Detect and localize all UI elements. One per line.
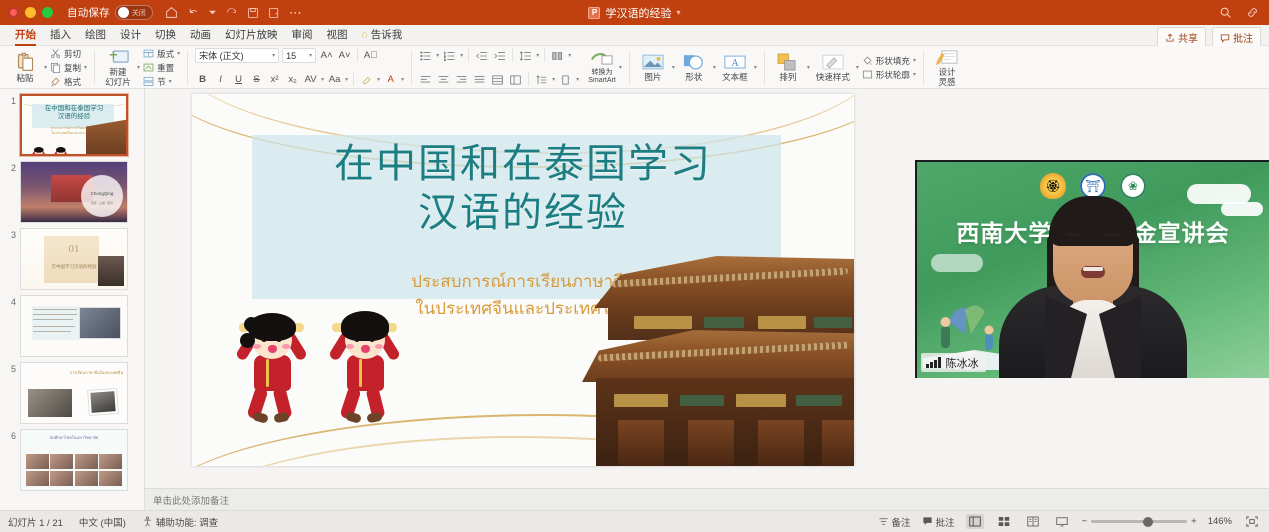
link-icon[interactable] [1246, 6, 1259, 19]
thumbnail-number: 2 [4, 161, 16, 173]
chevron-down-icon[interactable]: ▾ [913, 57, 916, 64]
cut-label: 剪切 [64, 48, 81, 60]
zoom-level-label[interactable]: 146% [1208, 516, 1232, 527]
slide-thumbnail-4[interactable] [20, 295, 128, 357]
zoom-out-button[interactable]: − [1082, 516, 1088, 527]
ribbon-tab-bar: 开始 插入 绘图 设计 切换 动画 幻灯片放映 审阅 视图 ◌告诉我 共享 批注 [0, 25, 1269, 46]
chevron-down-icon[interactable]: ▾ [309, 52, 312, 59]
quick-styles-label: 快速样式 [816, 73, 850, 82]
participant-name-badge: 陈冰冰 [921, 353, 986, 372]
ribbon-group-font: 宋体 (正文) ▾ 15 ▾ A˄ A˅ A⃠ B I U S x² x₂ AV [190, 47, 409, 88]
chevron-down-icon[interactable]: ▾ [169, 78, 172, 85]
emblem-icon-3: ❀ [1120, 173, 1146, 199]
chevron-down-icon[interactable]: ▾ [807, 64, 810, 71]
thumbnail-number: 3 [4, 228, 16, 240]
shape-fill-button[interactable]: 形状填充 ▾ [862, 55, 916, 67]
thumb-kid-boy [54, 147, 57, 151]
thumb-portrait-photo [87, 388, 119, 416]
thumb-title-line2: 汉语的经验 [22, 113, 126, 121]
shape-outline-icon [862, 69, 873, 80]
picture-label: 图片 [644, 73, 661, 82]
highlighter-icon [361, 74, 372, 85]
layout-icon [143, 48, 154, 59]
chevron-down-icon[interactable]: ▾ [460, 52, 463, 59]
bold-button[interactable]: B [195, 73, 210, 87]
numbered-list-icon: 123 [444, 51, 455, 61]
accessibility-label: 辅助功能: 调查 [156, 515, 218, 529]
participant-name: 陈冰冰 [946, 355, 979, 371]
subscript-button[interactable]: x₂ [285, 73, 300, 87]
save-icon[interactable] [247, 7, 259, 19]
chevron-down-icon[interactable]: ▾ [672, 64, 675, 71]
zoom-track[interactable] [1091, 520, 1187, 523]
thumb-section-number: 01 [21, 243, 127, 255]
font-name-value: 宋体 (正文) [199, 49, 244, 62]
text-direction-icon [510, 75, 521, 85]
powerpoint-icon: P [588, 7, 600, 19]
share-icon [1165, 33, 1175, 43]
ribbon-separator [468, 49, 469, 62]
fit-window-icon [1246, 516, 1258, 527]
ribbon-group-clipboard: 粘贴 ▾ 剪切 复制 ▾ 格式 [4, 47, 92, 88]
vertical-text-icon [560, 75, 571, 85]
more-icon[interactable]: ⋯ [289, 6, 302, 19]
chevron-down-icon[interactable]: ▾ [321, 76, 324, 83]
fit-to-window-button[interactable] [1243, 514, 1261, 529]
character-spacing-button[interactable]: AV [303, 73, 318, 87]
increase-font-size-button[interactable]: A˄ [319, 49, 334, 63]
accessibility-icon [142, 516, 153, 527]
underline-button[interactable]: U [231, 73, 246, 87]
notes-icon [878, 516, 889, 527]
ribbon-tab-view[interactable]: 视图 [320, 25, 355, 45]
chevron-down-icon[interactable]: ▾ [568, 52, 571, 59]
ribbon-tab-animations[interactable]: 动画 [183, 25, 218, 45]
ribbon-tab-draw[interactable]: 绘图 [78, 25, 113, 45]
redo-icon[interactable] [225, 6, 238, 19]
comment-icon [922, 516, 933, 527]
zoom-in-button[interactable]: + [1191, 516, 1197, 527]
format-painter-button[interactable]: 格式 [50, 76, 87, 88]
copy-label: 复制 [64, 62, 81, 74]
ribbon-separator [353, 73, 354, 86]
slide-title-line2: 汉语的经验 [192, 188, 854, 238]
textbox-label: 文本框 [722, 73, 748, 82]
text-box-direction-button[interactable] [558, 73, 573, 87]
reading-view-icon [1027, 516, 1039, 527]
scissors-icon [50, 48, 61, 59]
slide-sorter-view-button[interactable] [995, 514, 1013, 529]
notes-placeholder: 单击此处添加备注 [153, 493, 229, 507]
participant-video-feed [993, 198, 1193, 378]
search-icon[interactable] [1219, 6, 1232, 19]
decrease-font-size-button[interactable]: A˅ [337, 49, 352, 63]
thumb-textblock [32, 306, 80, 341]
clear-formatting-button[interactable]: A⃠ [363, 49, 378, 63]
reading-view-button[interactable] [1024, 514, 1042, 529]
section-label: 节 [157, 76, 166, 88]
thumb-group-photo [79, 307, 121, 339]
ribbon-group-designer: 设计 灵感 [926, 47, 968, 88]
clipboard-commands: 剪切 复制 ▾ 格式 [50, 48, 87, 88]
accessibility-status[interactable]: 辅助功能: 调查 [142, 515, 218, 529]
strikethrough-button[interactable]: S [249, 73, 264, 87]
comments-toggle-button[interactable]: 批注 [922, 515, 955, 529]
presenter-view-button[interactable] [1053, 514, 1071, 529]
new-slide-label-line2: 幻灯片 [105, 78, 131, 87]
new-slide-label-line1: 新建 [110, 68, 127, 77]
textbox-icon: A [724, 53, 746, 72]
line-spacing-button[interactable] [518, 49, 533, 63]
chevron-down-icon[interactable]: ▾ [856, 64, 859, 71]
paste-dropdown-icon[interactable]: ▾ [44, 64, 47, 71]
thumbnail-number: 5 [4, 362, 16, 374]
thumb-heading: นักศึกษาไทยในมหาวิทยาลัย [21, 434, 127, 441]
chevron-down-icon[interactable]: ▾ [177, 50, 180, 57]
font-name-combobox[interactable]: 宋体 (正文) ▾ [195, 48, 279, 63]
ribbon-tab-slideshow[interactable]: 幻灯片放映 [218, 25, 285, 45]
chevron-down-icon[interactable]: ▾ [913, 71, 916, 78]
justify-icon [474, 75, 485, 85]
thumbnail-number: 6 [4, 429, 16, 441]
slide-title[interactable]: 在中国和在泰国学习 汉语的经验 [192, 139, 854, 238]
chevron-down-icon[interactable]: ▾ [713, 64, 716, 71]
decrease-indent-icon [476, 51, 487, 61]
cartoon-boy-illustration [331, 311, 399, 421]
thumbnail-row-5[interactable]: 5 การเรียนภาษาจีนในประเทศจีน [0, 357, 144, 424]
chevron-down-icon[interactable]: ▾ [436, 52, 439, 59]
chevron-down-icon[interactable] [209, 9, 216, 16]
section-icon [143, 76, 154, 87]
thumb-caption-circle: ChongQing 重庆 · 山城 · 夜景 [81, 175, 123, 217]
slide-thumbnail-6[interactable]: นักศึกษาไทยในมหาวิทยาลัย [20, 429, 128, 491]
normal-view-icon [969, 516, 981, 527]
chevron-down-icon[interactable]: ▾ [619, 64, 622, 71]
chevron-down-icon[interactable]: ▾ [377, 76, 380, 83]
ribbon-separator [94, 51, 95, 84]
thumb-caption-sub: 重庆 · 山城 · 夜景 [81, 201, 123, 205]
ribbon-separator [411, 51, 412, 84]
shape-format-commands: 形状填充 ▾ 形状轮廓 ▾ [862, 55, 916, 81]
change-case-button[interactable]: Aa [327, 73, 342, 87]
superscript-button[interactable]: x² [267, 73, 282, 87]
ribbon-separator [528, 73, 529, 86]
ribbon-separator [512, 49, 513, 62]
normal-view-button[interactable] [966, 514, 984, 529]
new-slide-icon [107, 48, 129, 67]
decrease-indent-button[interactable] [474, 49, 489, 63]
picture-icon [642, 53, 664, 72]
font-size-value: 15 [286, 51, 296, 61]
tell-me-label: 告诉我 [371, 29, 403, 41]
align-right-icon [456, 75, 467, 85]
temple-lower-facade [596, 378, 854, 466]
cartoon-girl-illustration [238, 311, 306, 421]
language-indicator[interactable]: 中文 (中国) [79, 515, 126, 529]
paste-icon [15, 52, 36, 73]
arrange-icon [777, 53, 798, 72]
autosave-state-label: 关闭 [132, 8, 146, 18]
chevron-down-icon[interactable]: ▾ [401, 76, 404, 83]
svg-text:2: 2 [444, 54, 446, 58]
reset-icon [143, 62, 154, 73]
video-conference-panel[interactable]: 🏵 ⛩ ❀ 西南大学20 学金宣讲会 [915, 160, 1269, 378]
powerpoint-window: 自动保存 关闭 ⋯ P [0, 0, 1269, 532]
ribbon-tab-design[interactable]: 设计 [113, 25, 148, 45]
status-bar-right: 备注 批注 − + [878, 514, 1261, 529]
ribbon-separator [357, 49, 358, 62]
cloud-decoration [931, 254, 983, 272]
format-painter-label: 格式 [64, 76, 81, 88]
notes-pane[interactable]: 单击此处添加备注 [145, 488, 1269, 510]
chevron-down-icon[interactable]: ▾ [552, 76, 555, 83]
comments-button-label: 批注 [936, 515, 955, 529]
share-button[interactable]: 共享 [1157, 27, 1206, 48]
autosave-toggle[interactable]: 关闭 [115, 5, 153, 20]
thumbnail-row-1[interactable]: 1 在中国和在泰国学习 汉语的经验 ประสบการณ์การเรียนภาษา… [0, 89, 144, 156]
ribbon-group-insert: 图片 ▾ 形状 ▾ A 文本框 ▾ [632, 47, 762, 88]
titlebar-right-actions [1219, 0, 1259, 25]
slide-title-line1: 在中国和在泰国学习 [192, 139, 854, 189]
layout-label: 版式 [157, 48, 174, 60]
thumbnail-number: 4 [4, 295, 16, 307]
bullets-button[interactable] [418, 49, 433, 63]
close-window-button[interactable] [8, 7, 19, 18]
ribbon-tab-review[interactable]: 审阅 [285, 25, 320, 45]
svg-text:A: A [731, 58, 739, 69]
text-direction-button[interactable] [508, 73, 523, 87]
smartart-label-line2: SmartArt [588, 77, 616, 84]
ribbon-separator [923, 51, 924, 84]
ribbon-tab-insert[interactable]: 插入 [43, 25, 78, 45]
ribbon-tab-home[interactable]: 开始 [8, 25, 43, 45]
arrange-label: 排列 [779, 73, 796, 82]
chevron-down-icon[interactable]: ▾ [576, 76, 579, 83]
autosave-toggle-knob [118, 7, 129, 18]
paste-button[interactable]: 粘贴 [9, 51, 41, 84]
slide-sorter-icon [998, 516, 1010, 527]
chevron-down-icon[interactable]: ▾ [272, 52, 275, 59]
align-text-icon [536, 75, 547, 85]
layout-button[interactable]: 版式 ▾ [143, 48, 180, 60]
align-center-button[interactable] [436, 73, 451, 87]
thumbnail-number: 1 [4, 94, 16, 106]
status-bar: 幻灯片 1 / 21 中文 (中国) 辅助功能: 调查 备注 批注 [0, 510, 1269, 532]
shapes-button[interactable]: 形状 [678, 52, 710, 83]
thumb-kid-girl [32, 147, 35, 151]
notes-button-label: 备注 [892, 515, 911, 529]
thumb-classroom-photo [28, 389, 72, 417]
designer-button[interactable]: 设计 灵感 [931, 47, 963, 88]
reset-button[interactable]: 重置 [143, 62, 180, 74]
thumb-caption: ChongQing [81, 191, 123, 196]
designer-label-line2: 灵感 [938, 78, 955, 87]
slide-counter[interactable]: 幻灯片 1 / 21 [8, 515, 63, 529]
home-icon[interactable] [165, 6, 178, 19]
thumb-heading: การเรียนภาษาจีนในประเทศจีน [21, 369, 123, 376]
presenter-view-icon [1056, 516, 1068, 527]
reset-label: 重置 [157, 62, 174, 74]
title-bar: 自动保存 关闭 ⋯ P [0, 0, 1269, 25]
shape-outline-label: 形状轮廓 [876, 69, 910, 81]
emblem-icon-2: ⛩ [1080, 173, 1106, 199]
thumbnail-row-6[interactable]: 6 นักศึกษาไทยในมหาวิทยาลัย [0, 424, 144, 491]
quick-styles-icon [822, 53, 844, 72]
font-color-button[interactable]: A [383, 73, 398, 87]
chevron-down-icon[interactable]: ▾ [676, 8, 680, 17]
section-button[interactable]: 节 ▾ [143, 76, 180, 88]
slide-commands: 版式 ▾ 重置 节 ▾ [143, 48, 180, 88]
font-size-combobox[interactable]: 15 ▾ [282, 48, 316, 63]
new-slide-button[interactable]: 新建 幻灯片 [102, 47, 134, 88]
designer-icon [935, 48, 958, 67]
slide-thumbnail-1[interactable]: 在中国和在泰国学习 汉语的经验 ประสบการณ์การเรียนภาษาจี… [20, 94, 128, 156]
lightbulb-icon: ◌ [362, 29, 368, 41]
chevron-down-icon[interactable]: ▾ [536, 52, 539, 59]
columns-icon [552, 51, 563, 61]
slide-thumbnail-5[interactable]: การเรียนภาษาจีนในประเทศจีน [20, 362, 128, 424]
arrange-button[interactable]: 排列 [772, 52, 804, 83]
textbox-button[interactable]: A 文本框 [719, 52, 751, 83]
distribute-button[interactable] [490, 73, 505, 87]
autosave-label: 自动保存 [67, 5, 110, 20]
chevron-down-icon[interactable]: ▾ [84, 64, 87, 71]
slide-thumbnail-2[interactable]: ChongQing 重庆 · 山城 · 夜景 [20, 161, 128, 223]
font-row-bottom: B I U S x² x₂ AV ▾ Aa ▾ ▾ A ▾ [195, 69, 404, 90]
paragraph-row-top: ▾ 123 ▾ ▾ [418, 45, 579, 66]
ribbon-tab-transitions[interactable]: 切换 [148, 25, 183, 45]
font-row-top: 宋体 (正文) ▾ 15 ▾ A˄ A˅ A⃠ [195, 45, 404, 66]
italic-button[interactable]: I [213, 73, 228, 87]
shape-fill-label: 形状填充 [876, 55, 910, 67]
cut-button[interactable]: 剪切 [50, 48, 87, 60]
zoom-slider[interactable]: − + [1082, 516, 1197, 527]
ribbon-toolbar: 粘贴 ▾ 剪切 复制 ▾ 格式 [0, 46, 1269, 89]
shapes-icon [683, 53, 705, 72]
maximize-window-button[interactable] [42, 7, 53, 18]
notes-toggle-button[interactable]: 备注 [878, 515, 911, 529]
thumbnail-row-2[interactable]: 2 ChongQing 重庆 · 山城 · 夜景 [0, 156, 144, 223]
svg-text:1: 1 [444, 51, 446, 55]
bullet-list-icon [420, 51, 431, 61]
thumb-photo-grid [26, 454, 122, 486]
smartart-label-line1: 转换为 [592, 69, 613, 76]
document-title: 学汉语的经验 [605, 5, 671, 21]
smartart-icon [591, 51, 613, 68]
ribbon-group-smartart: 转换为 SmartArt ▾ [583, 47, 627, 88]
ribbon-group-drawing: 排列 ▾ 快速样式 ▾ 形状填充 ▾ 形状轮廓 [767, 47, 921, 88]
thumb-title: 在中国和在泰国学习 汉语的经验 [22, 105, 126, 121]
format-painter-icon [50, 76, 61, 87]
paragraph-row-bottom: ▾ ▾ [418, 69, 579, 90]
thumbnail-row-3[interactable]: 3 01 在中国学习汉语的经验 [0, 223, 144, 290]
text-highlight-color-button[interactable] [359, 73, 374, 87]
quick-access-toolbar: ⋯ [165, 6, 302, 19]
share-label: 共享 [1178, 30, 1198, 45]
align-center-icon [438, 75, 449, 85]
align-right-button[interactable] [454, 73, 469, 87]
increase-indent-icon [494, 51, 505, 61]
comments-button[interactable]: 批注 [1212, 27, 1261, 48]
quick-styles-button[interactable]: 快速样式 [813, 52, 853, 83]
align-text-button[interactable] [534, 73, 549, 87]
ribbon-group-paragraph: ▾ 123 ▾ ▾ [414, 47, 583, 88]
justify-button[interactable] [472, 73, 487, 87]
ribbon-right-actions: 共享 批注 [1157, 27, 1261, 48]
event-emblems: 🏵 ⛩ ❀ [917, 173, 1269, 199]
chevron-down-icon[interactable]: ▾ [345, 76, 348, 83]
thumb-photo [98, 256, 124, 286]
ribbon-separator [187, 51, 188, 84]
shape-outline-button[interactable]: 形状轮廓 ▾ [862, 69, 916, 81]
copy-icon [50, 62, 61, 73]
svg-text:3: 3 [444, 57, 446, 60]
current-slide[interactable]: 在中国和在泰国学习 汉语的经验 ประสบการณ์การเรียนภาษาจี… [192, 94, 854, 466]
convert-to-smartart-button[interactable]: 转换为 SmartArt [588, 51, 616, 84]
numbering-button[interactable]: 123 [442, 49, 457, 63]
slide-thumbnail-panel[interactable]: 1 在中国和在泰国学习 汉语的经验 ประสบการณ์การเรียนภาษา… [0, 89, 145, 510]
align-left-icon [420, 75, 431, 85]
shapes-label: 形状 [685, 73, 702, 82]
comments-label: 批注 [1233, 30, 1253, 45]
columns-button[interactable] [550, 49, 565, 63]
thumbnail-row-4[interactable]: 4 [0, 290, 144, 357]
ribbon-group-slides: 新建 幻灯片 ▾ 版式 ▾ 重置 节 ▾ [97, 47, 185, 88]
paste-label: 粘贴 [16, 74, 33, 83]
ribbon-separator [629, 51, 630, 84]
copy-button[interactable]: 复制 ▾ [50, 62, 87, 74]
zoom-handle[interactable] [1143, 517, 1153, 527]
distribute-icon [492, 75, 503, 85]
signal-strength-icon [926, 357, 941, 368]
comment-icon [1220, 33, 1230, 43]
ribbon-separator [544, 49, 545, 62]
increase-indent-button[interactable] [492, 49, 507, 63]
line-spacing-icon [520, 51, 531, 61]
align-left-button[interactable] [418, 73, 433, 87]
chevron-down-icon[interactable]: ▾ [754, 64, 757, 71]
undo-icon[interactable] [187, 6, 200, 19]
chinese-temple-illustration [584, 256, 854, 466]
ribbon-tab-tell-me[interactable]: ◌告诉我 [355, 25, 410, 45]
picture-button[interactable]: 图片 [637, 52, 669, 83]
save-as-icon[interactable] [268, 7, 280, 19]
shape-fill-icon [862, 55, 873, 66]
designer-label-line1: 设计 [938, 68, 955, 77]
ribbon-separator [764, 51, 765, 84]
window-controls[interactable] [8, 7, 53, 18]
minimize-window-button[interactable] [25, 7, 36, 18]
new-slide-dropdown-icon[interactable]: ▾ [137, 64, 140, 71]
slide-thumbnail-3[interactable]: 01 在中国学习汉语的经验 [20, 228, 128, 290]
emblem-icon-1: 🏵 [1040, 173, 1066, 199]
